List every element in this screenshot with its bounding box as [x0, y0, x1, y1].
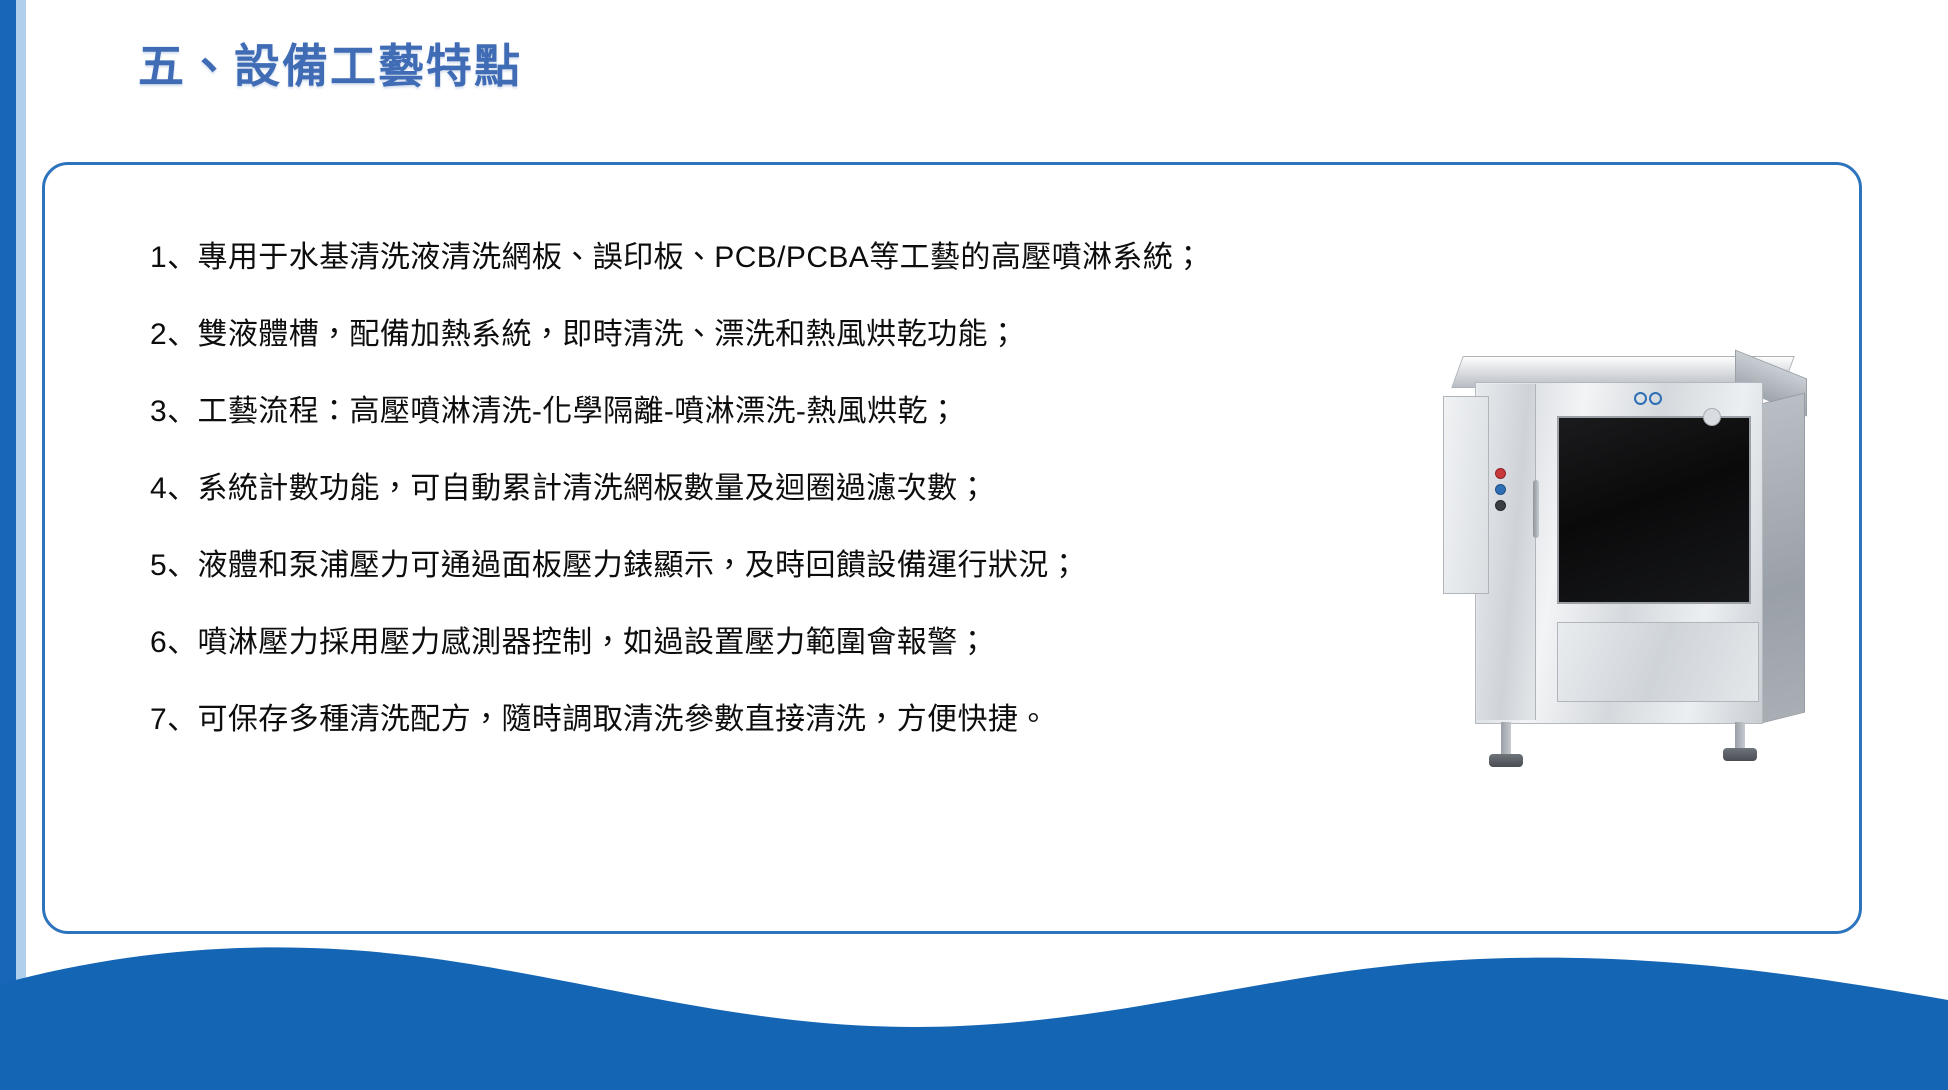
feature-list: 1、 專用于水基清洗液清洗網板、誤印板、PCB/PCBA等工藝的高壓噴淋系統； … [150, 243, 1350, 735]
indicator-light-red-icon [1495, 468, 1506, 479]
list-item: 6、 噴淋壓力採用壓力感測器控制，如過設置壓力範圍會報警； [150, 628, 1350, 658]
machine-badge-icon [1703, 408, 1721, 426]
control-knob-icon [1495, 500, 1506, 511]
machine-foot [1723, 748, 1757, 761]
list-item-text: 系統計數功能，可自動累計清洗網板數量及迴圈過濾次數； [198, 474, 988, 504]
machine-lower-drawer [1557, 622, 1759, 702]
left-accent-bar [0, 0, 16, 1090]
list-item: 1、 專用于水基清洗液清洗網板、誤印板、PCB/PCBA等工藝的高壓噴淋系統； [150, 243, 1350, 273]
machine-photo [1435, 350, 1835, 790]
list-item-text: 噴淋壓力採用壓力感測器控制，如過設置壓力範圍會報警； [198, 628, 988, 658]
machine-viewing-window [1557, 416, 1751, 604]
list-item-number: 6、 [150, 628, 198, 658]
slide-root: 五、設備工藝特點 1、 專用于水基清洗液清洗網板、誤印板、PCB/PCBA等工藝… [0, 0, 1948, 1090]
machine-illustration [1435, 350, 1835, 790]
list-item-number: 4、 [150, 474, 198, 504]
list-item: 2、 雙液體槽，配備加熱系統，即時清洗、漂洗和熱風烘乾功能； [150, 320, 1350, 350]
list-item: 7、 可保存多種清洗配方，隨時調取清洗參數直接清洗，方便快捷。 [150, 705, 1350, 735]
list-item: 4、 系統計數功能，可自動累計清洗網板數量及迴圈過濾次數； [150, 474, 1350, 504]
indicator-light-blue-icon [1495, 484, 1506, 495]
list-item-text: 專用于水基清洗液清洗網板、誤印板、PCB/PCBA等工藝的高壓噴淋系統； [198, 243, 1204, 273]
list-item: 5、 液體和泵浦壓力可通過面板壓力錶顯示，及時回饋設備運行狀況； [150, 551, 1350, 581]
page-title: 五、設備工藝特點 [138, 30, 522, 96]
bottom-wave-decoration [0, 930, 1948, 1090]
left-accent-bar-soft [16, 0, 26, 1090]
machine-door-handle [1533, 480, 1539, 538]
list-item-text: 液體和泵浦壓力可通過面板壓力錶顯示，及時回饋設備運行狀況； [198, 551, 1080, 581]
list-item-number: 7、 [150, 705, 198, 735]
list-item-number: 3、 [150, 397, 198, 427]
content-card: 1、 專用于水基清洗液清洗網板、誤印板、PCB/PCBA等工藝的高壓噴淋系統； … [42, 162, 1862, 934]
machine-control-door [1443, 396, 1489, 594]
list-item-number: 1、 [150, 243, 198, 273]
list-item: 3、 工藝流程：高壓噴淋清洗-化學隔離-噴淋漂洗-熱風烘乾； [150, 397, 1350, 427]
machine-side-panel [1761, 393, 1805, 724]
list-item-text: 工藝流程：高壓噴淋清洗-化學隔離-噴淋漂洗-熱風烘乾； [198, 397, 959, 427]
list-item-number: 5、 [150, 551, 198, 581]
machine-foot [1489, 754, 1523, 767]
brand-logo-icon [1631, 390, 1665, 406]
machine-leg [1501, 722, 1511, 758]
list-item-number: 2、 [150, 320, 198, 350]
list-item-text: 雙液體槽，配備加熱系統，即時清洗、漂洗和熱風烘乾功能； [198, 320, 1019, 350]
list-item-text: 可保存多種清洗配方，隨時調取清洗參數直接清洗，方便快捷。 [198, 705, 1049, 735]
